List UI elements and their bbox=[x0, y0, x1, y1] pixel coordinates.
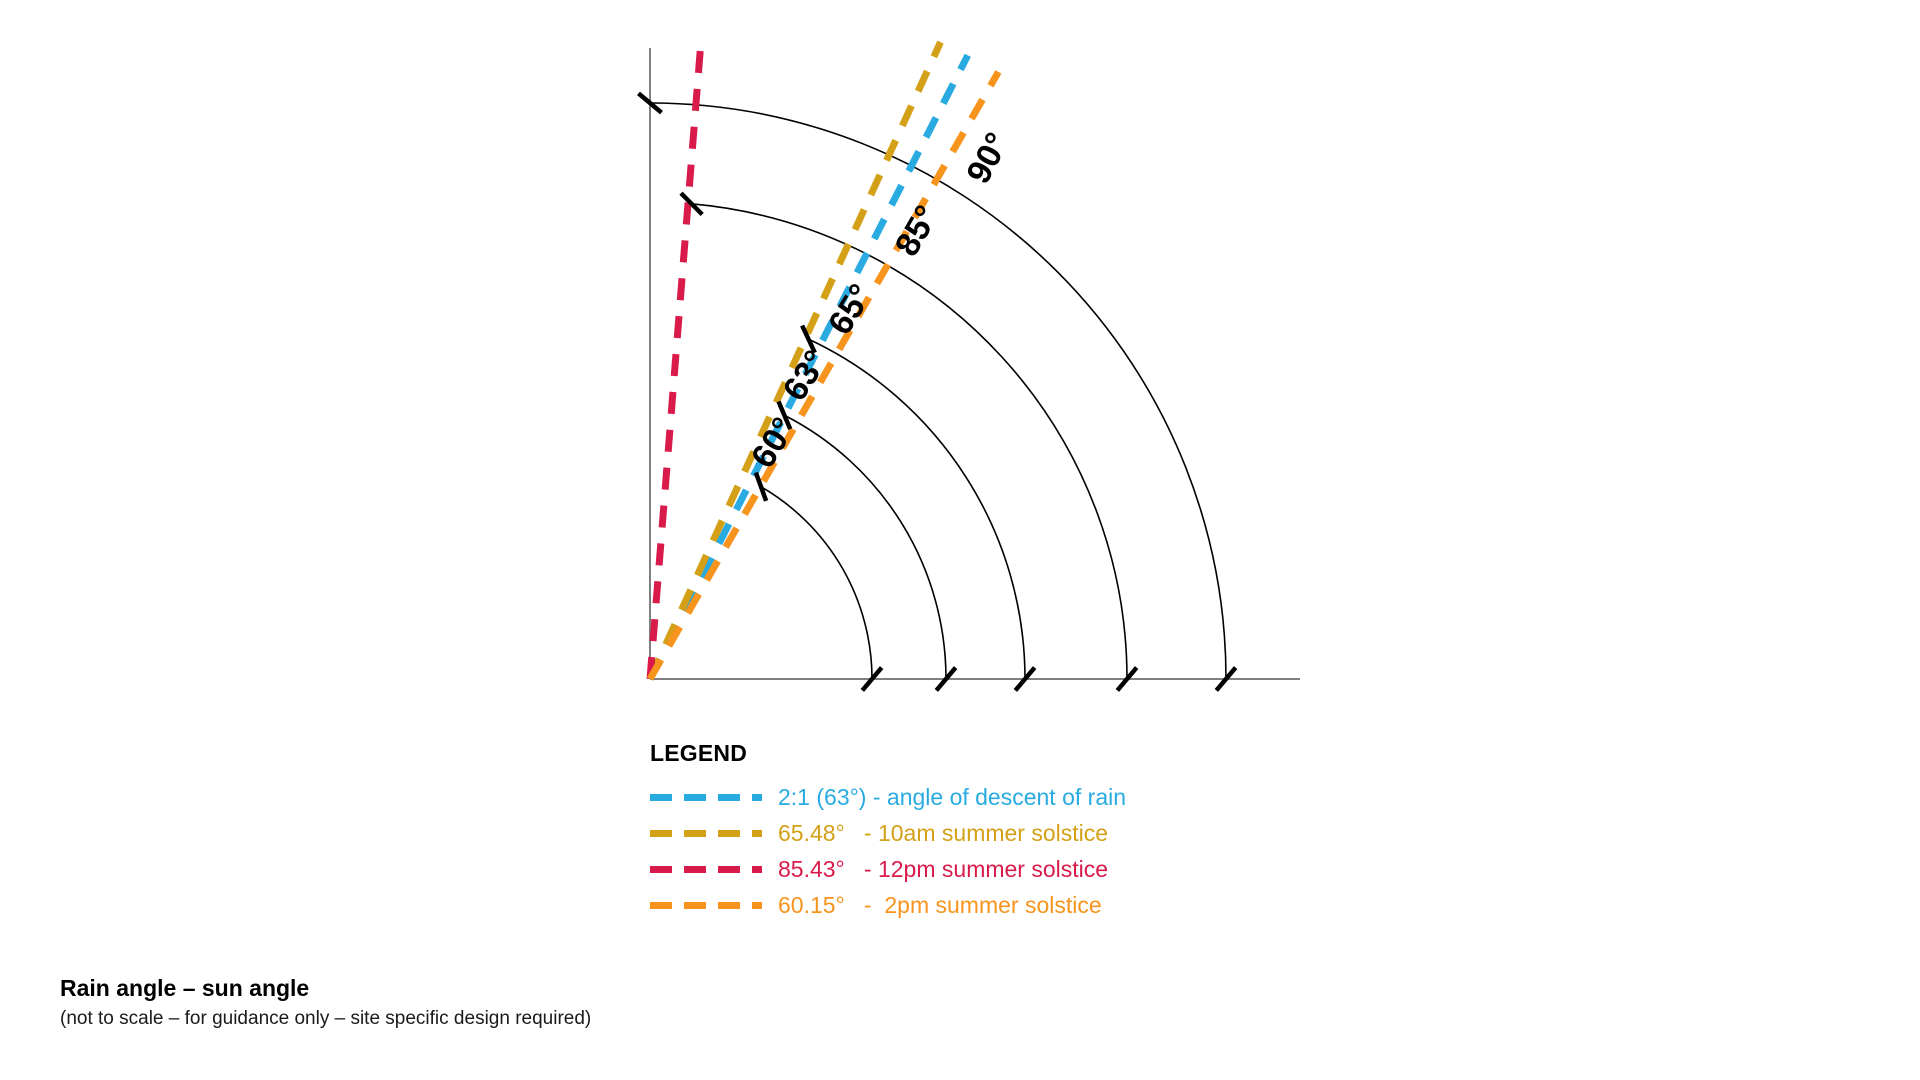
arc-60 bbox=[761, 487, 872, 679]
arc-label-90: 90° bbox=[959, 127, 1017, 190]
legend-row: 65.48° - 10am summer solstice bbox=[650, 815, 1270, 851]
legend-swatch-icon bbox=[650, 902, 762, 909]
arc-label-85: 85° bbox=[888, 199, 947, 263]
legend-label: 60.15° - 2pm summer solstice bbox=[778, 894, 1102, 917]
title-block: Rain angle – sun angle (not to scale – f… bbox=[60, 975, 860, 1030]
legend-row: 2:1 (63°) - angle of descent of rain bbox=[650, 779, 1270, 815]
legend-label: 65.48° - 10am summer solstice bbox=[778, 822, 1108, 845]
arc-label-63: 63° bbox=[776, 344, 836, 408]
legend-rows: 2:1 (63°) - angle of descent of rain65.4… bbox=[650, 779, 1270, 923]
legend-swatch-icon bbox=[650, 830, 762, 837]
arc-65 bbox=[808, 339, 1025, 679]
diagram-title: Rain angle – sun angle bbox=[60, 975, 860, 1002]
legend-row: 85.43° - 12pm summer solstice bbox=[650, 851, 1270, 887]
legend-row: 60.15° - 2pm summer solstice bbox=[650, 887, 1270, 923]
legend: LEGEND 2:1 (63°) - angle of descent of r… bbox=[650, 740, 1270, 923]
solstice-12pm-line bbox=[650, 41, 701, 679]
arc-63 bbox=[784, 415, 946, 679]
legend-swatch-icon bbox=[650, 794, 762, 801]
legend-swatch-icon bbox=[650, 866, 762, 873]
arc-90 bbox=[650, 103, 1226, 679]
legend-label: 85.43° - 12pm summer solstice bbox=[778, 858, 1108, 881]
legend-title: LEGEND bbox=[650, 740, 1270, 767]
arcs-group bbox=[650, 103, 1226, 679]
diagram-subtitle: (not to scale – for guidance only – site… bbox=[60, 1008, 860, 1030]
legend-label: 2:1 (63°) - angle of descent of rain bbox=[778, 786, 1126, 809]
